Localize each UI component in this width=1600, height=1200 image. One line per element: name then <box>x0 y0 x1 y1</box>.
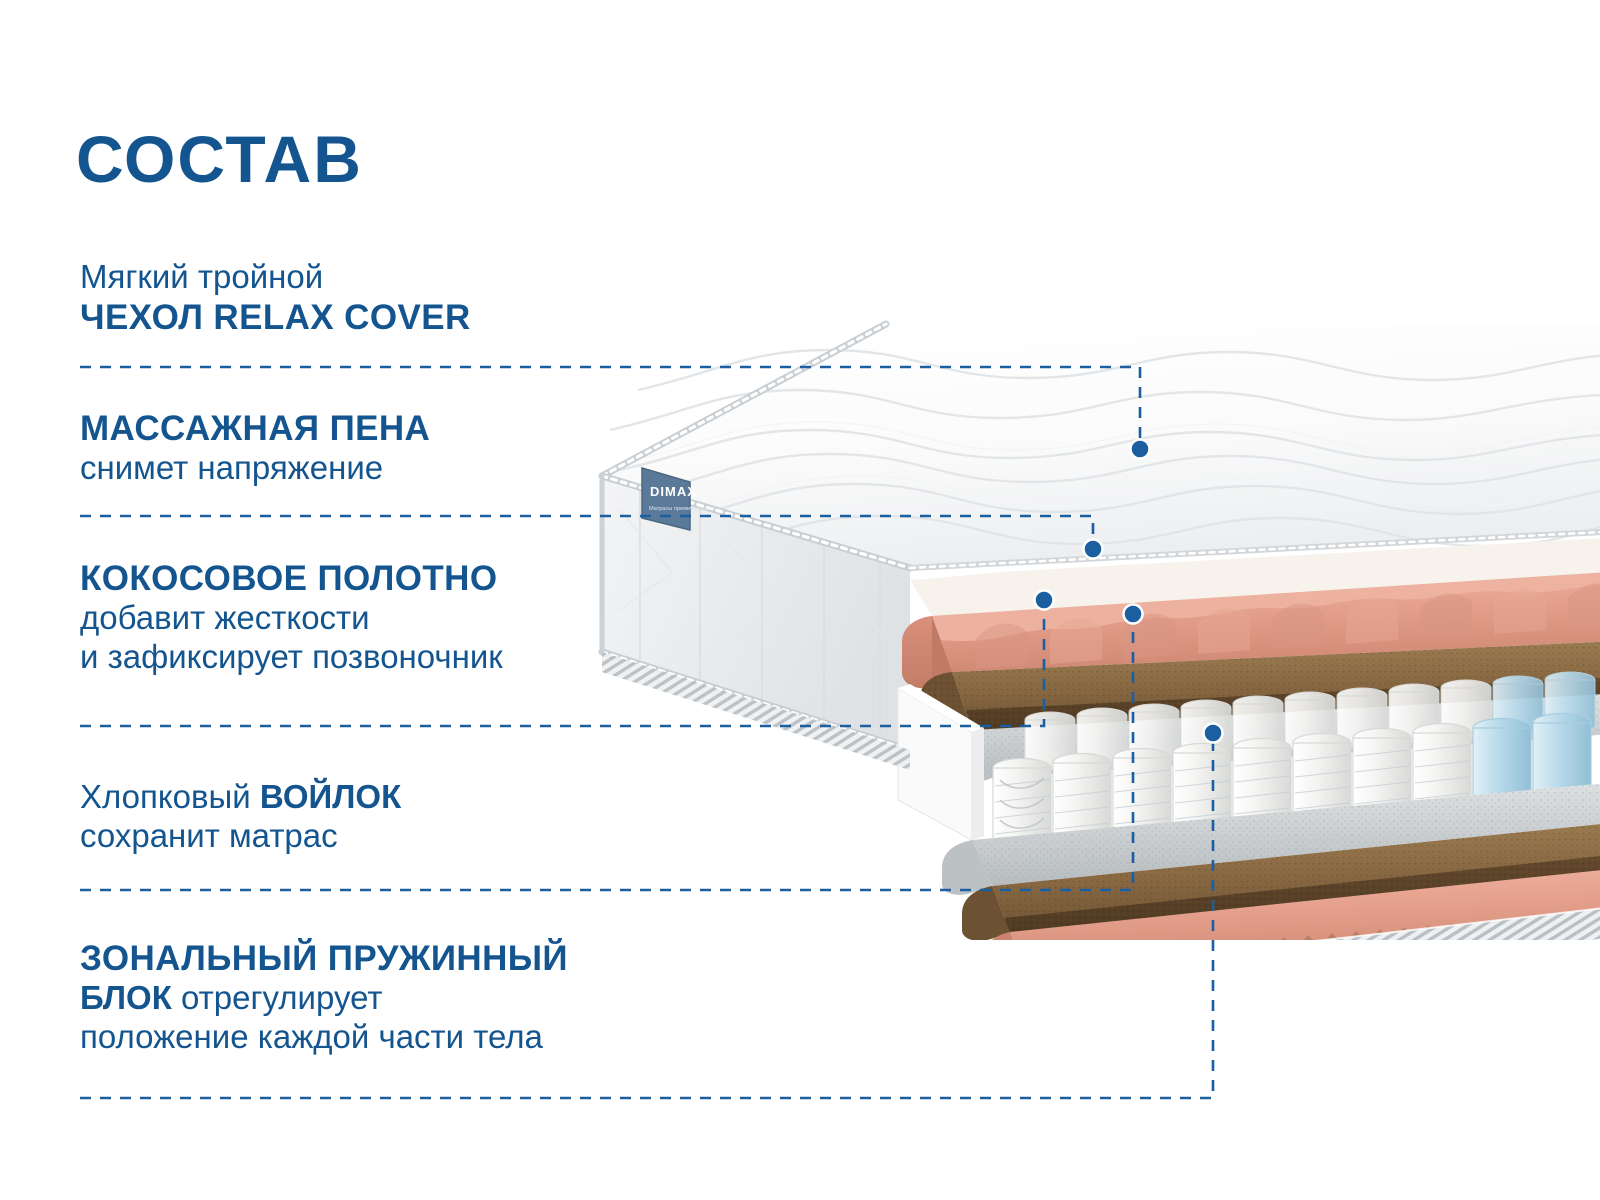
leader-dot-springs <box>1204 724 1223 743</box>
callout-cover-line2: ЧЕХОЛ RELAX COVER <box>80 297 471 338</box>
leader-dot-felt <box>1124 605 1143 624</box>
callout-coir-line1: КОКОСОВОЕ ПОЛОТНО <box>80 558 503 599</box>
callout-springs-line1: ЗОНАЛЬНЫЙ ПРУЖИННЫЙ <box>80 938 568 979</box>
callout-massage-foam: МАССАЖНАЯ ПЕНА снимет напряжение <box>80 408 430 488</box>
callout-felt-line1-pre: Хлопковый <box>80 778 260 815</box>
leader-dot-coir <box>1035 591 1054 610</box>
leader-dot-cover <box>1131 440 1150 459</box>
callout-coir-line3: и зафиксирует позвоночник <box>80 638 503 677</box>
callout-coir-line2: добавит жесткости <box>80 599 503 638</box>
leader-dot-foam <box>1084 540 1103 559</box>
callout-felt-line1-bold: ВОЙЛОК <box>260 778 401 815</box>
callout-springs-line2-bold: БЛОК <box>80 979 172 1016</box>
callout-cotton-felt: Хлопковый ВОЙЛОК сохранит матрас <box>80 778 401 856</box>
callout-coconut-coir: КОКОСОВОЕ ПОЛОТНО добавит жесткости и за… <box>80 558 503 677</box>
callout-foam-line2: снимет напряжение <box>80 449 430 488</box>
callout-felt-line1: Хлопковый ВОЙЛОК <box>80 778 401 817</box>
leader-foam <box>80 516 1093 543</box>
callout-springs-line2-post: отрегулирует <box>172 979 383 1016</box>
callout-cover-line1: Мягкий тройной <box>80 258 471 297</box>
callout-springs-line3: положение каждой части тела <box>80 1018 568 1057</box>
callout-zonal-spring-block: ЗОНАЛЬНЫЙ ПРУЖИННЫЙ БЛОК отрегулирует по… <box>80 938 568 1057</box>
callout-springs-line2: БЛОК отрегулирует <box>80 979 568 1018</box>
infographic-canvas: СОСТАВ <box>0 0 1600 1200</box>
callout-relax-cover: Мягкий тройной ЧЕХОЛ RELAX COVER <box>80 258 471 338</box>
callout-foam-line1: МАССАЖНАЯ ПЕНА <box>80 408 430 449</box>
callout-felt-line2: сохранит матрас <box>80 817 401 856</box>
